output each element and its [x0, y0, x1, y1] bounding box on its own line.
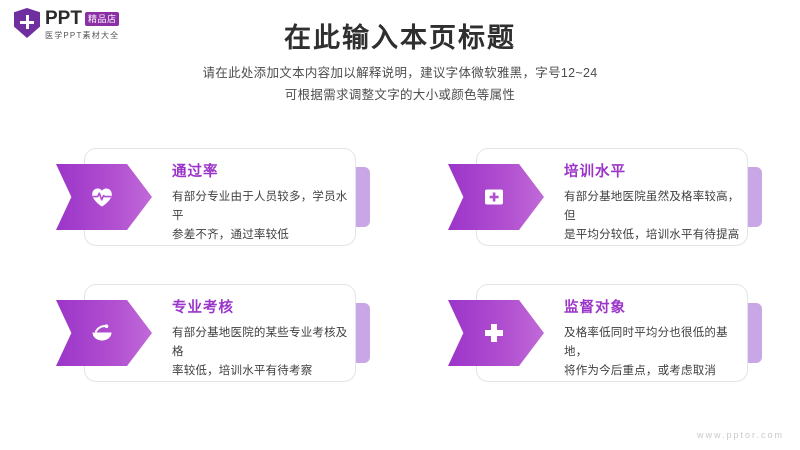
- card-text: 培训水平 有部分基地医院虽然及格率较高，但 是平均分较低，培训水平有待提高: [564, 160, 744, 245]
- card-description: 及格率低同时平均分也很低的基地， 将作为今后重点，或考虑取消: [564, 324, 744, 381]
- card-item[interactable]: 监督对象 及格率低同时平均分也很低的基地， 将作为今后重点，或考虑取消: [448, 284, 748, 382]
- card-text: 监督对象 及格率低同时平均分也很低的基地， 将作为今后重点，或考虑取消: [564, 296, 744, 381]
- card-description: 有部分基地医院虽然及格率较高，但 是平均分较低，培训水平有待提高: [564, 188, 744, 245]
- card-heading: 培训水平: [564, 160, 744, 181]
- card-description-line: 参差不齐，通过率较低: [172, 226, 352, 245]
- page-subtitle: 请在此处添加文本内容加以解释说明，建议字体微软雅黑，字号12~24 可根据需求调…: [0, 62, 800, 106]
- subtitle-line-2: 可根据需求调整文字的大小或颜色等属性: [0, 84, 800, 106]
- card-description-line: 将作为今后重点，或考虑取消: [564, 362, 744, 381]
- card-description-line: 有部分基地医院的某些专业考核及格: [172, 324, 352, 362]
- card-item[interactable]: 专业考核 有部分基地医院的某些专业考核及格 率较低，培训水平有待考察: [56, 284, 356, 382]
- card-description-line: 有部分基地医院虽然及格率较高，但: [564, 188, 744, 226]
- card-description-line: 率较低，培训水平有待考察: [172, 362, 352, 381]
- card-heading: 监督对象: [564, 296, 744, 317]
- card-heading: 通过率: [172, 160, 352, 181]
- card-item[interactable]: 通过率 有部分专业由于人员较多，学员水平 参差不齐，通过率较低: [56, 148, 356, 246]
- page-title: 在此输入本页标题: [0, 16, 800, 55]
- card-item[interactable]: 培训水平 有部分基地医院虽然及格率较高，但 是平均分较低，培训水平有待提高: [448, 148, 748, 246]
- card-description-line: 是平均分较低，培训水平有待提高: [564, 226, 744, 245]
- card-description: 有部分专业由于人员较多，学员水平 参差不齐，通过率较低: [172, 188, 352, 245]
- card-description-line: 及格率低同时平均分也很低的基地，: [564, 324, 744, 362]
- heartbeat-icon: [80, 164, 124, 230]
- cards-grid: 通过率 有部分专业由于人员较多，学员水平 参差不齐，通过率较低 培训水平 有部分…: [56, 148, 748, 382]
- card-heading: 专业考核: [172, 296, 352, 317]
- card-description: 有部分基地医院的某些专业考核及格 率较低，培训水平有待考察: [172, 324, 352, 381]
- card-text: 专业考核 有部分基地医院的某些专业考核及格 率较低，培训水平有待考察: [172, 296, 352, 381]
- subtitle-line-1: 请在此处添加文本内容加以解释说明，建议字体微软雅黑，字号12~24: [0, 62, 800, 84]
- watermark: www.pptor.com: [697, 430, 784, 440]
- hospital-cross-icon: [472, 164, 516, 230]
- card-text: 通过率 有部分专业由于人员较多，学员水平 参差不齐，通过率较低: [172, 160, 352, 245]
- mortar-pestle-icon: [80, 300, 124, 366]
- card-description-line: 有部分专业由于人员较多，学员水平: [172, 188, 352, 226]
- medical-cross-icon: [472, 300, 516, 366]
